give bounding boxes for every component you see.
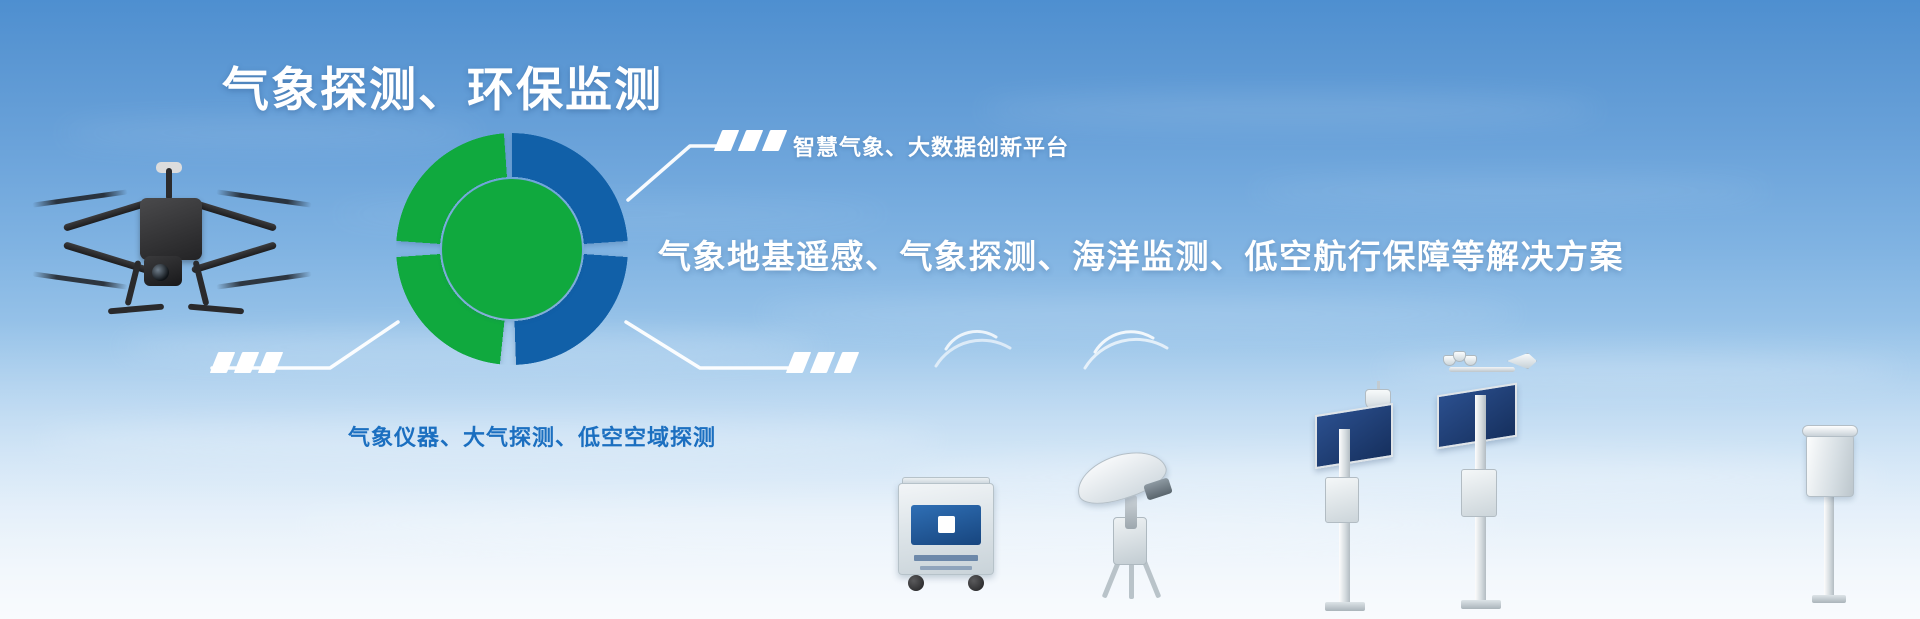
weather-detection-banner: 气象探测、环保监测 智慧气象、大数据创新平台 气象地基遥感、气象探测、海洋监测、…: [0, 0, 1920, 619]
solar-weather-station-icon: [1285, 381, 1405, 611]
slash-marks-icon-left: [214, 352, 279, 373]
slash-marks-icon-top: [718, 130, 783, 151]
donut-ring-graphic: [396, 133, 628, 365]
callout-main: 气象地基遥感、气象探测、海洋监测、低空航行保障等解决方案: [658, 230, 1624, 278]
slash-marks-icon-bottom: [790, 352, 855, 373]
donut-core: [442, 179, 582, 319]
callout-bottom: 气象仪器、大气探测、低空空域探测: [348, 420, 716, 452]
rain-gauge-icon: [1790, 423, 1870, 603]
callout-top: 智慧气象、大数据创新平台: [793, 130, 1069, 162]
drone-icon: [48, 160, 298, 345]
anemometer-station-icon: [1415, 349, 1545, 609]
satellite-dish-icon: [1075, 455, 1195, 595]
laser-radar-icon: [898, 476, 994, 591]
page-title: 气象探测、环保监测: [222, 51, 663, 120]
